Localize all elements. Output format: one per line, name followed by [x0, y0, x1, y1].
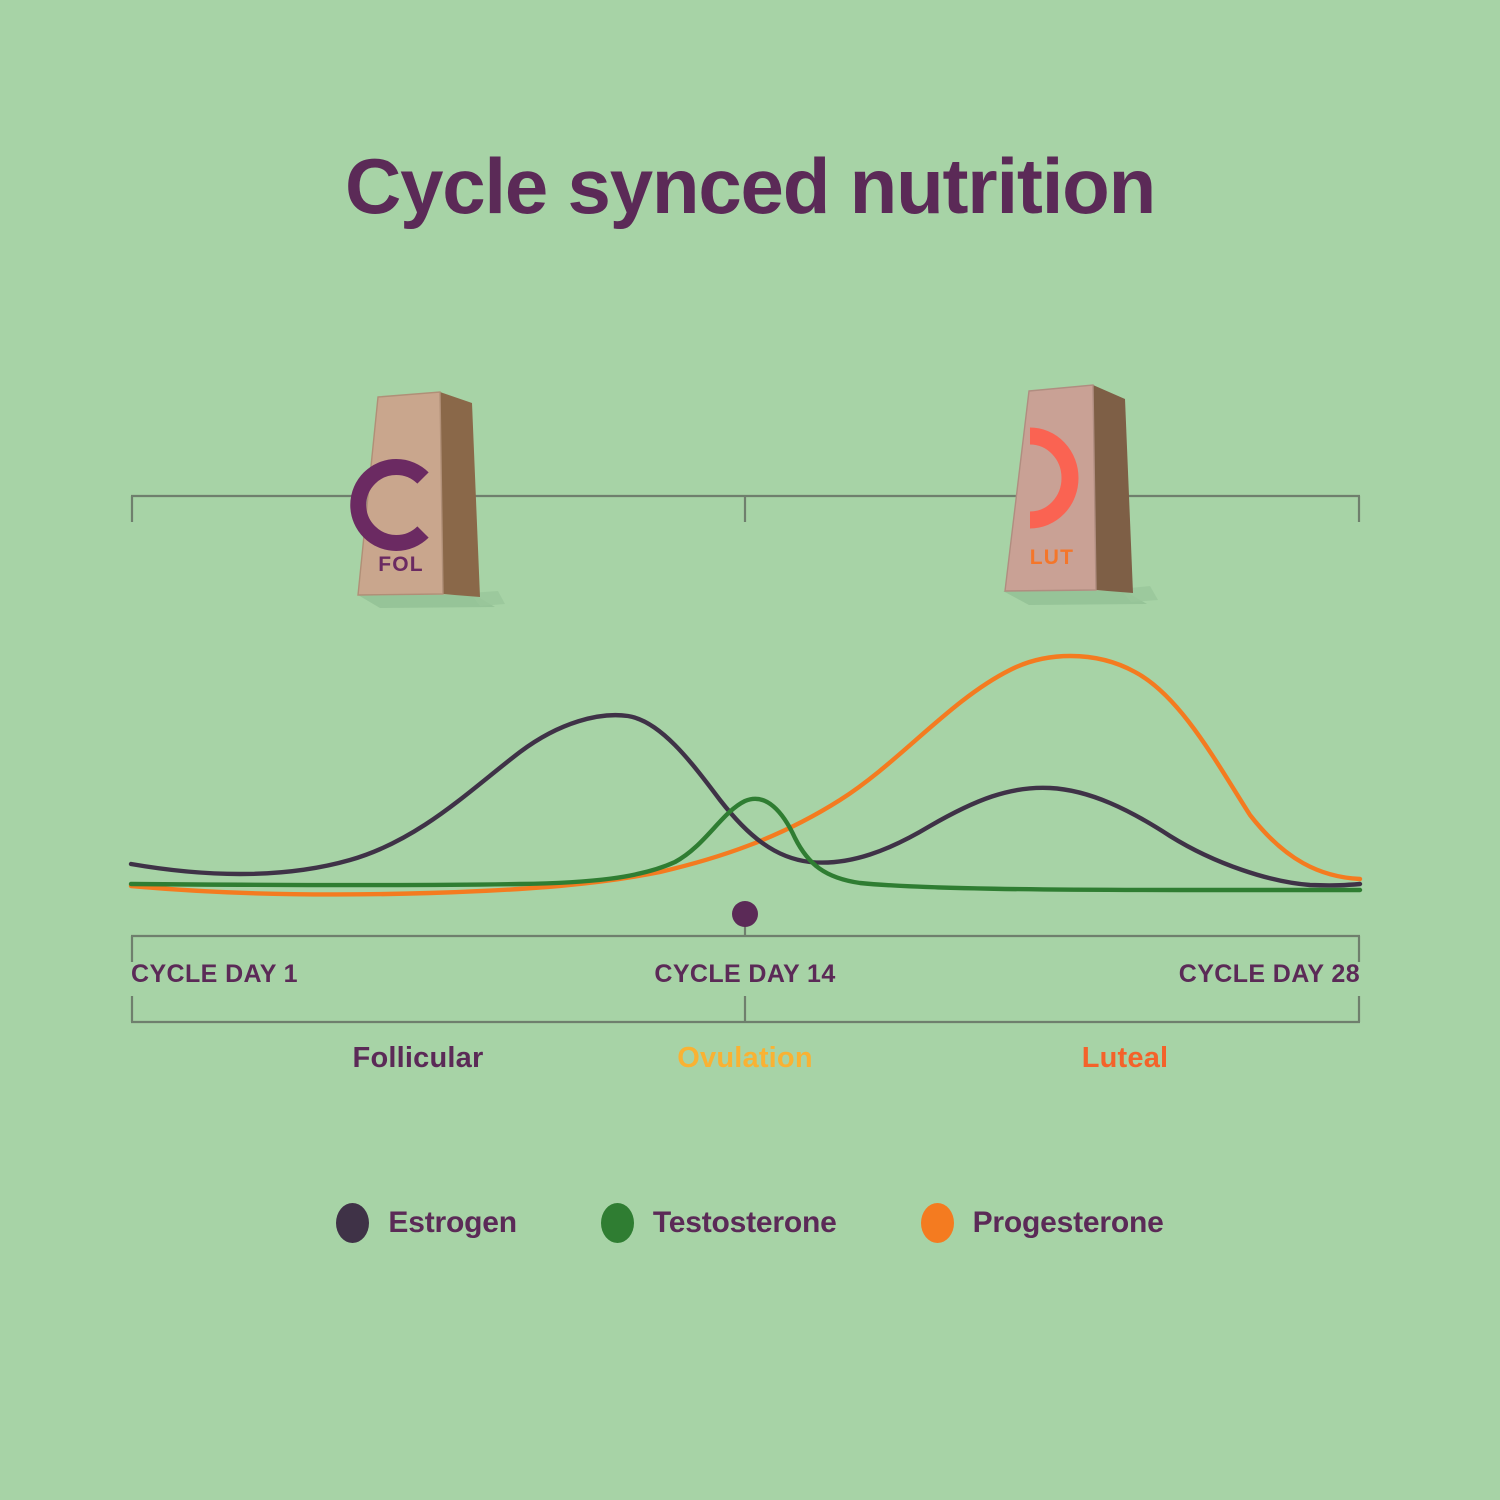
- axis-label-cycle-day-14: CYCLE DAY 14: [570, 960, 920, 989]
- axis-label-cycle-day-28: CYCLE DAY 28: [1010, 960, 1360, 989]
- legend-item-estrogen[interactable]: Estrogen: [336, 1203, 516, 1243]
- phase-label-luteal: Luteal: [985, 1042, 1265, 1075]
- legend-dot-testosterone: [601, 1203, 634, 1243]
- legend-label-progesterone: Progesterone: [973, 1206, 1164, 1240]
- legend-item-progesterone[interactable]: Progesterone: [921, 1203, 1164, 1243]
- legend-dot-estrogen: [336, 1203, 369, 1243]
- phase-label-ovulation: Ovulation: [605, 1042, 885, 1075]
- cycle-axis: [0, 0, 1500, 1100]
- legend-item-testosterone[interactable]: Testosterone: [601, 1203, 837, 1243]
- legend-label-testosterone: Testosterone: [653, 1206, 837, 1240]
- legend-label-estrogen: Estrogen: [388, 1206, 516, 1240]
- infographic-canvas: Cycle synced nutrition FOL: [0, 0, 1500, 1500]
- axis-label-cycle-day-1: CYCLE DAY 1: [131, 960, 298, 989]
- legend-dot-progesterone: [921, 1203, 954, 1243]
- chart-legend: Estrogen Testosterone Progesterone: [0, 1203, 1500, 1243]
- phase-label-follicular: Follicular: [258, 1042, 578, 1075]
